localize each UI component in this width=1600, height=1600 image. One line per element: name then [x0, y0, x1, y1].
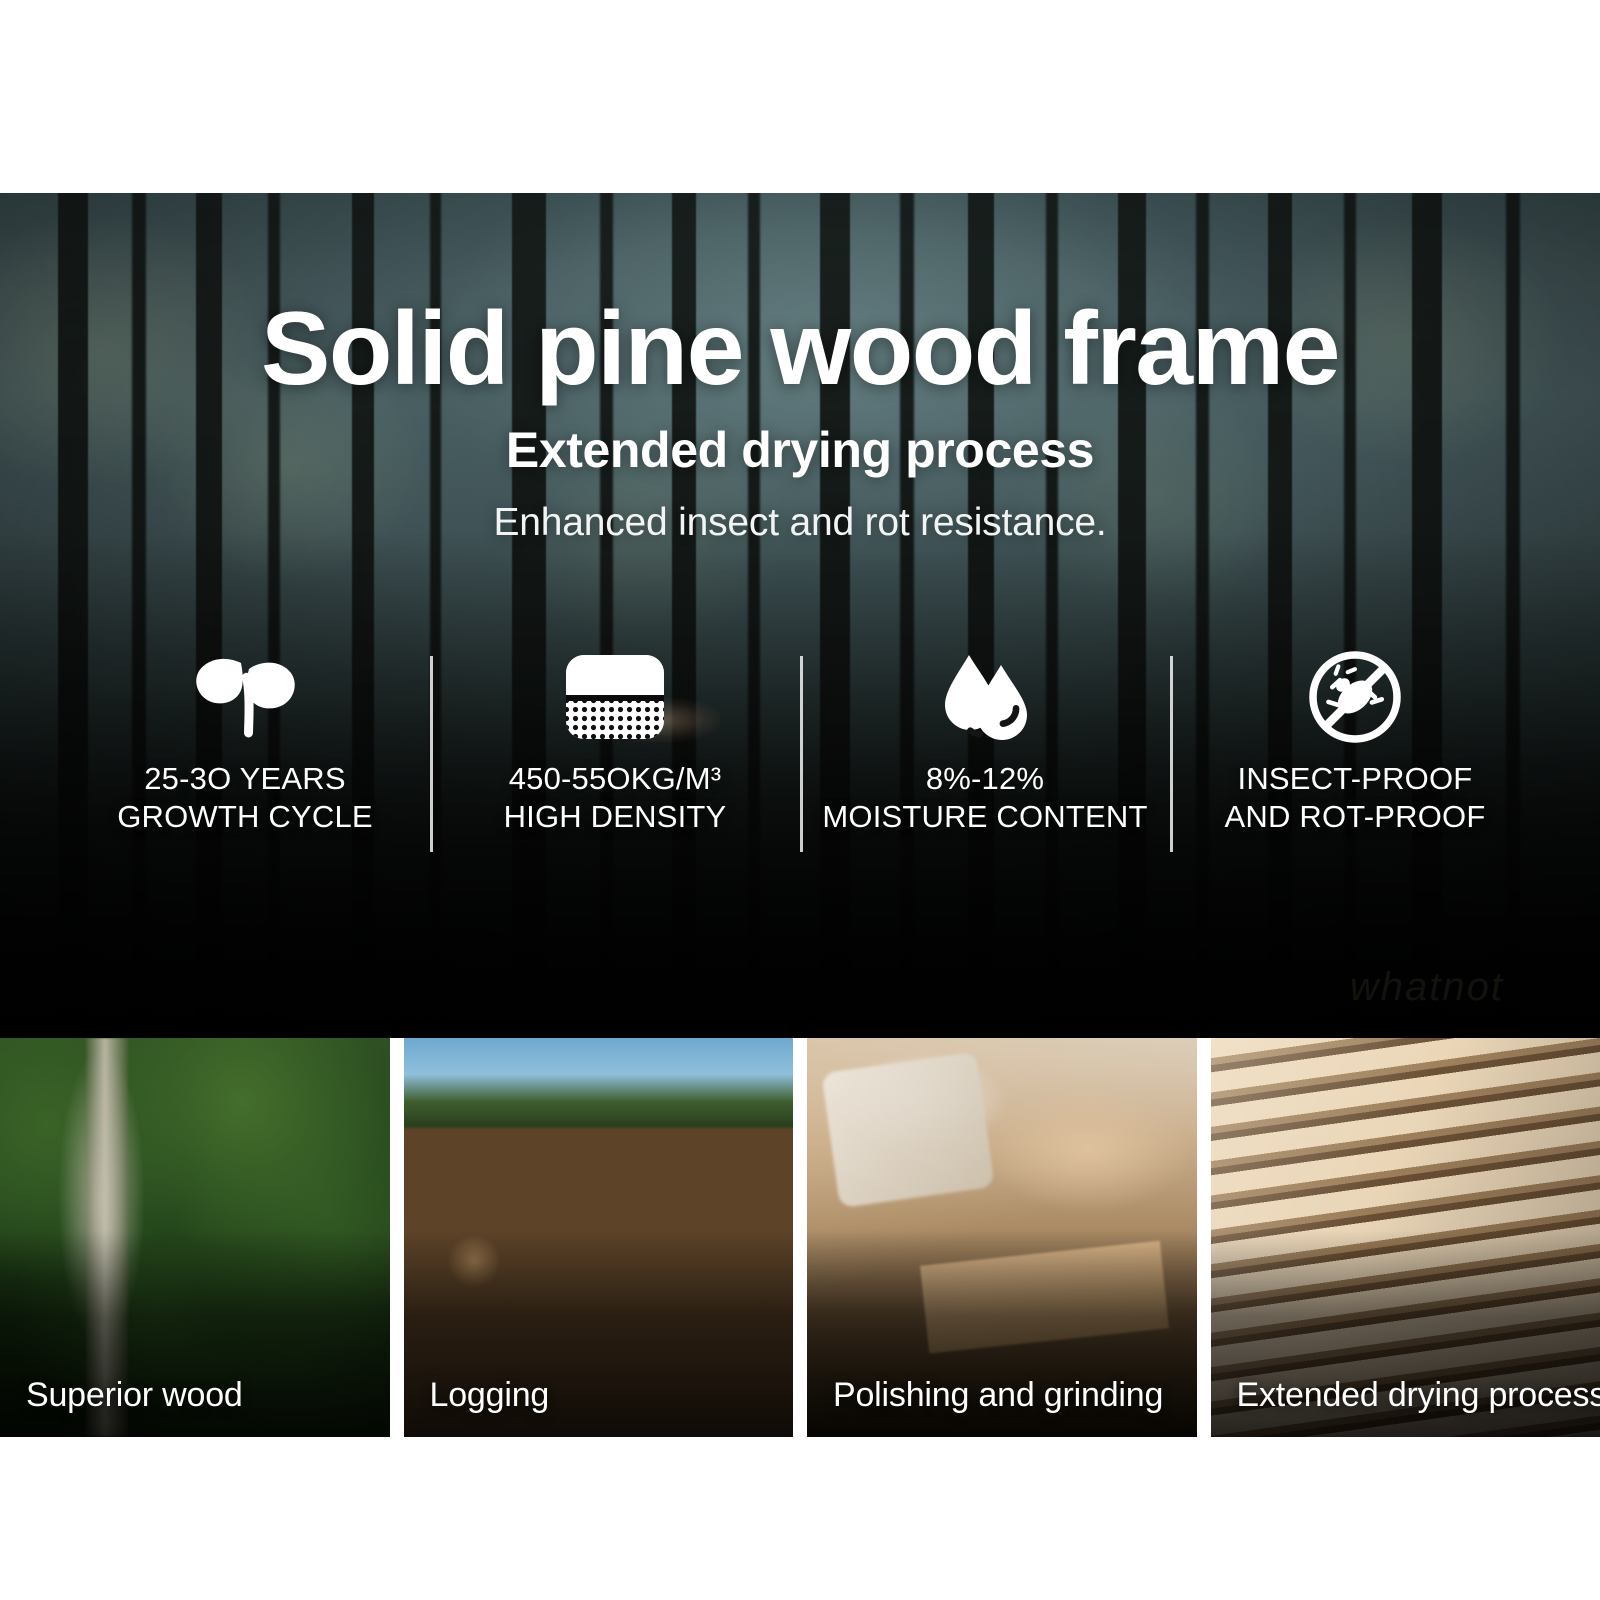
- photo-card-logging[interactable]: Logging: [404, 1038, 794, 1437]
- feature-high-density: 450-55OKG/M³ HIGH DENSITY: [430, 648, 800, 858]
- photo-caption: Polishing and grinding: [833, 1376, 1185, 1415]
- process-photo-strip: Superior wood Logging Polishing and grin…: [0, 1038, 1600, 1437]
- feature-moisture-content: 8%-12% MOISTURE CONTENT: [800, 648, 1170, 858]
- hero-tagline: Enhanced insect and rot resistance.: [0, 501, 1600, 545]
- photo-caption: Logging: [430, 1376, 782, 1415]
- feature-row: 25-3O YEARS GROWTH CYCLE: [60, 648, 1540, 858]
- feature-insect-rot-proof: INSECT-PROOF AND ROT-PROOF: [1170, 648, 1540, 858]
- photo-caption: Extended drying process: [1237, 1376, 1589, 1415]
- photo-card-superior-wood[interactable]: Superior wood: [0, 1038, 390, 1437]
- water-droplets-icon: [933, 648, 1037, 746]
- infographic-page: Solid pine wood frame Extended drying pr…: [0, 0, 1600, 1600]
- watermark: whatnot: [1350, 965, 1504, 1010]
- no-insect-icon: [1305, 648, 1405, 746]
- hero-subtitle: Extended drying process: [0, 421, 1600, 479]
- feature-label: INSECT-PROOF AND ROT-PROOF: [1225, 760, 1486, 836]
- hero-banner: Solid pine wood frame Extended drying pr…: [0, 193, 1600, 1038]
- photo-card-extended-drying[interactable]: Extended drying process: [1211, 1038, 1600, 1437]
- feature-label: 8%-12% MOISTURE CONTENT: [822, 760, 1147, 836]
- leaf-icon: [193, 648, 297, 746]
- hero-copy: Solid pine wood frame Extended drying pr…: [0, 295, 1600, 545]
- page-title: Solid pine wood frame: [0, 295, 1600, 403]
- feature-growth-cycle: 25-3O YEARS GROWTH CYCLE: [60, 648, 430, 858]
- density-block-icon: [562, 648, 668, 746]
- feature-label: 25-3O YEARS GROWTH CYCLE: [117, 760, 373, 836]
- photo-card-polishing-grinding[interactable]: Polishing and grinding: [807, 1038, 1197, 1437]
- photo-caption: Superior wood: [26, 1376, 378, 1415]
- feature-label: 450-55OKG/M³ HIGH DENSITY: [504, 760, 727, 836]
